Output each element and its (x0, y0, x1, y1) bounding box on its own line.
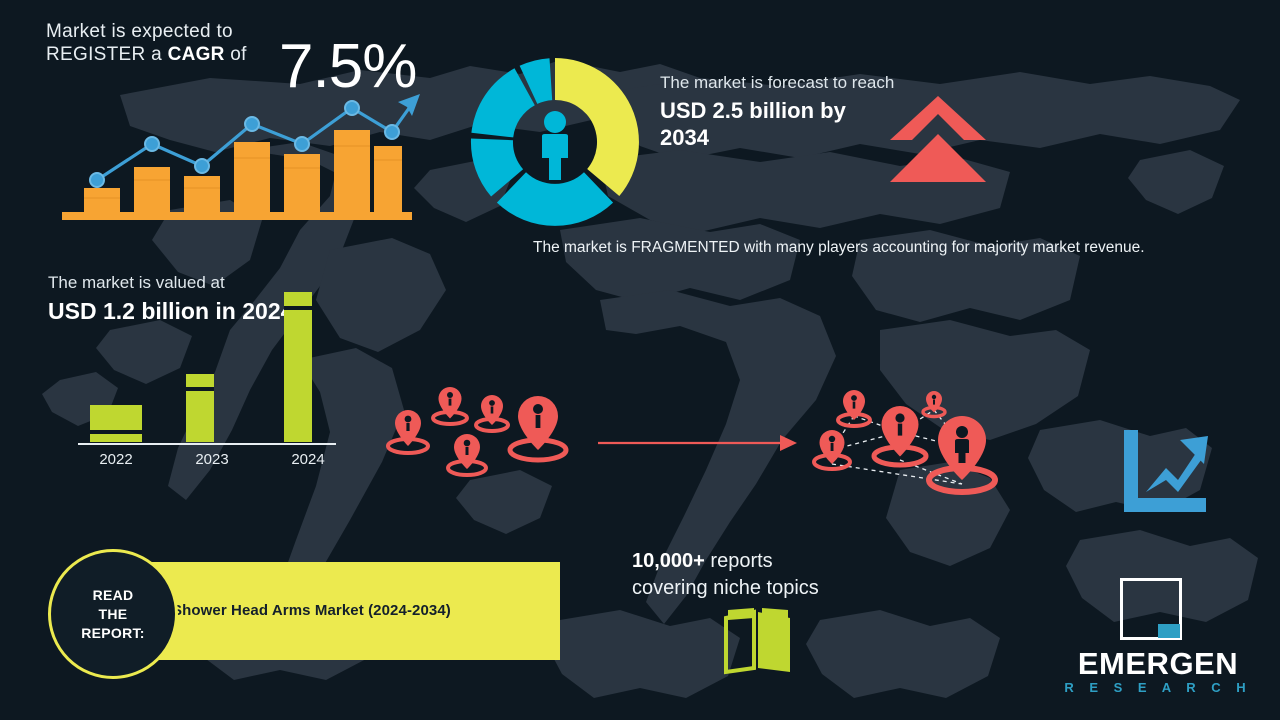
bars (84, 130, 402, 212)
logo-subtitle: R E S E A R C H (1058, 680, 1258, 695)
read-report-banner[interactable]: Shower Head Arms Market (2024-2034) (140, 562, 560, 660)
bar-2024 (284, 292, 312, 442)
logo-accent (1158, 624, 1180, 638)
tick-2022: 2022 (99, 451, 132, 468)
bar-2023 (186, 374, 214, 442)
donut-segment-d (471, 68, 534, 137)
chart-baseline (62, 212, 412, 220)
valuation-subtitle: The market is valued at (48, 272, 338, 294)
donut-segment-b (497, 172, 613, 226)
cagr-keyword: CAGR (168, 44, 225, 65)
reports-line-1: 10,000+ reports (632, 548, 932, 575)
reports-count: 10,000+ (632, 550, 705, 572)
fragmented-statement: The market is FRAGMENTED with many playe… (533, 236, 1223, 259)
emergen-square-logo (1120, 578, 1182, 640)
reports-count-suffix: reports (705, 550, 773, 572)
cagr-line2-pre: REGISTER a (46, 44, 168, 65)
tick-2024: 2024 (291, 451, 324, 468)
reports-line-2: covering niche topics (632, 575, 932, 602)
double-chevron-up-icon (888, 96, 988, 184)
forecast-subtitle: The market is forecast to reach (660, 72, 900, 94)
right-arrow-icon (598, 432, 798, 454)
line-chart-up-icon (1118, 428, 1210, 520)
x-axis-ticks: 2022 2023 2024 (99, 451, 324, 468)
map-pin-person-icon (433, 387, 467, 424)
map-pin-person-icon (388, 410, 428, 453)
forecast-block: The market is forecast to reach USD 2.5 … (660, 72, 900, 151)
market-share-donut (465, 52, 645, 232)
cta-line-2: THE (99, 606, 128, 622)
read-the-report-button[interactable]: READ THE REPORT: (48, 549, 178, 679)
cagr-line2-post: of (225, 44, 247, 65)
growth-bar-chart (62, 88, 412, 220)
bar-2022 (90, 405, 142, 442)
logo-wordmark: EMERGEN (1058, 646, 1258, 682)
infographic-canvas: Market is expected to REGISTER a CAGR of… (0, 0, 1280, 720)
map-pin-person-icon (874, 406, 926, 465)
bars (90, 292, 312, 442)
map-pin-person-icon (448, 434, 486, 475)
cta-line-3: REPORT: (81, 625, 145, 641)
map-pin-person-icon (814, 430, 850, 469)
cagr-block: Market is expected to REGISTER a CAGR of… (46, 20, 466, 66)
valuation-bar-chart: 2022 2023 2024 (78, 292, 338, 472)
connected-players-network (802, 388, 1017, 500)
person-icon (542, 111, 568, 180)
map-pin-person-icon (929, 416, 995, 492)
map-pin-person-icon (510, 396, 566, 460)
map-pin-person-icon (476, 395, 508, 431)
cta-line-1: READ (93, 587, 134, 603)
emergen-research-logo: EMERGEN R E S E A R C H (1058, 578, 1258, 696)
report-title: Shower Head Arms Market (2024-2034) (172, 602, 451, 619)
donut-segment-a (555, 58, 639, 196)
open-book-icon (722, 608, 794, 674)
map-pin-person-icon (923, 391, 945, 417)
fragmented-players-cluster (382, 382, 582, 492)
reports-count-block: 10,000+ reports covering niche topics (632, 548, 932, 602)
map-pin-person-icon (838, 390, 870, 426)
forecast-value: USD 2.5 billion by 2034 (660, 97, 900, 151)
tick-2023: 2023 (195, 451, 228, 468)
read-report-label: READ THE REPORT: (81, 586, 145, 643)
